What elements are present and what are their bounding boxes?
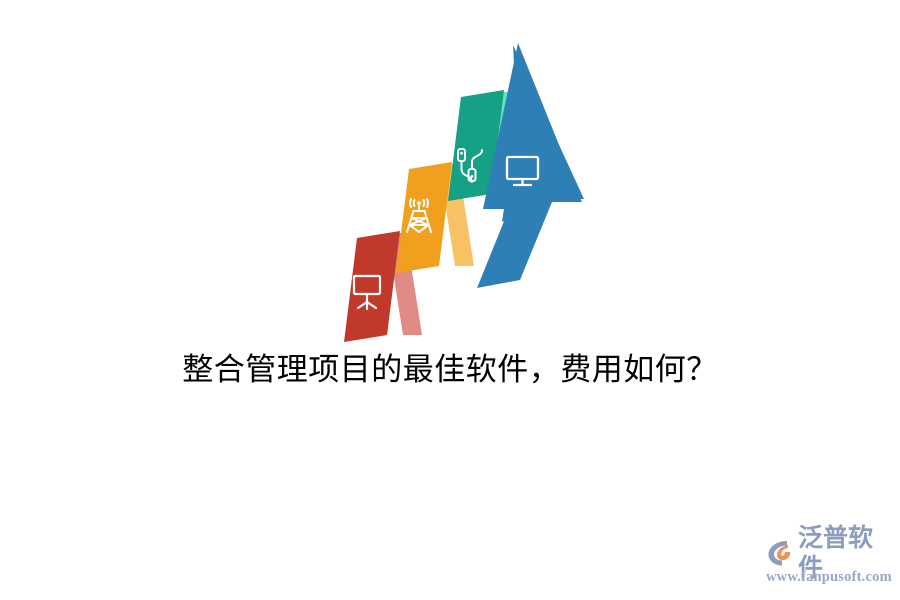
- brand-watermark: 泛普软件 www.fanpusoft.com: [766, 536, 890, 588]
- fanpu-logo-icon: [766, 538, 796, 568]
- arrow-body: [477, 43, 582, 288]
- page-title: 整合管理项目的最佳软件，费用如何？: [0, 348, 900, 392]
- page-root: 整合管理项目的最佳软件，费用如何？ 泛普软件 www.fanpusoft.com: [0, 0, 900, 600]
- ascending-arrow-infographic: [310, 35, 590, 345]
- brand-url: www.fanpusoft.com: [766, 569, 890, 586]
- logo-row: 泛普软件: [766, 536, 890, 570]
- step-4-blue-arrow: [477, 43, 584, 288]
- step-1-face: [344, 231, 400, 342]
